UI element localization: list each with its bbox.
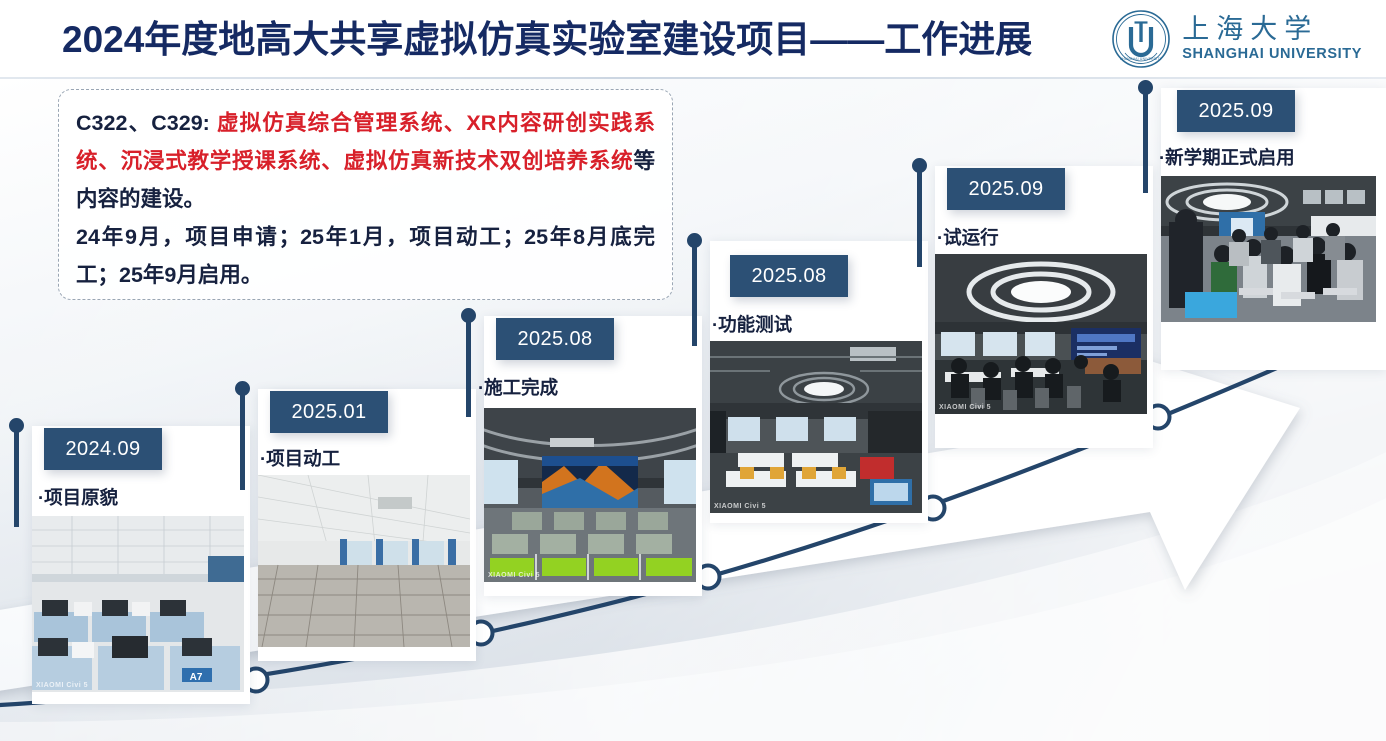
card-stem [14,427,19,527]
photo-watermark: XIAOMI Civi 5 [939,404,991,411]
card-stem [917,167,922,267]
milestone-card-6[interactable]: 2025.09 ·新学期正式启用 [1143,80,1386,380]
card-stem [692,242,697,346]
callout-code-label: C322、C329: [76,111,210,135]
logo-text-en: SHANGHAI UNIVERSITY [1182,45,1362,63]
milestone-date-badge: 2025.09 [1177,90,1295,132]
project-description-callout: C322、C329: 虚拟仿真综合管理系统、XR内容研创实践系统、沉浸式教学授课… [58,89,673,300]
card-stem [240,390,245,490]
milestone-date-badge: 2024.09 [44,428,162,470]
milestone-photo-5: XIAOMI Civi 5 [935,254,1147,414]
card-stem [1143,89,1148,193]
milestone-photo-6 [1161,176,1376,322]
milestone-caption: ·项目动工 [260,445,340,471]
photo-watermark: XIAOMI Civi 5 [488,572,540,579]
milestone-photo-4: XIAOMI Civi 5 [710,341,922,513]
milestone-photo-3: XIAOMI Civi 5 [484,408,696,582]
photo-watermark: XIAOMI Civi 5 [714,503,766,510]
svg-text:A7: A7 [190,672,203,683]
milestone-photo-2 [258,475,470,647]
milestone-photo-1: A7 XIAOMI Civi 5 [32,516,244,692]
photo-watermark: XIAOMI Civi 5 [36,682,88,689]
stem-dot-icon [1138,80,1153,95]
stem-dot-icon [912,158,927,173]
stem-dot-icon [9,418,24,433]
stem-dot-icon [687,233,702,248]
milestone-caption: ·功能测试 [712,311,792,337]
milestone-card-5[interactable]: 2025.09 ·试运行 [917,158,1153,458]
milestone-card-2[interactable]: 2025.01 ·项目动工 [240,381,476,671]
milestone-date-badge: 2025.08 [496,318,614,360]
slide-root: 2024年度地高大共享虚拟仿真实验室建设项目——工作进展 SHANGHAI UN… [0,0,1386,741]
milestone-date-badge: 2025.09 [947,168,1065,210]
milestone-caption: ·施工完成 [478,374,558,400]
callout-paragraph-1: C322、C329: 虚拟仿真综合管理系统、XR内容研创实践系统、沉浸式教学授课… [76,104,655,218]
slide-header: 2024年度地高大共享虚拟仿真实验室建设项目——工作进展 SHANGHAI UN… [0,0,1386,78]
milestone-caption: ·新学期正式启用 [1159,144,1295,170]
milestone-card-1[interactable]: 2024.09 ·项目原貌 [14,418,250,708]
university-logo: SHANGHAI UNIVERSITY 上海大学 SHANGHAI UNIVER… [1111,6,1362,72]
header-divider [0,77,1386,79]
card-stem [466,317,471,417]
stem-dot-icon [235,381,250,396]
milestone-date-badge: 2025.08 [730,255,848,297]
page-title: 2024年度地高大共享虚拟仿真实验室建设项目——工作进展 [62,14,1032,66]
stem-dot-icon [461,308,476,323]
milestone-date-badge: 2025.01 [270,391,388,433]
milestone-caption: ·试运行 [937,224,999,250]
callout-paragraph-2: 24年9月，项目申请；25年1月，项目动工；25年8月底完工；25年9月启用。 [76,218,655,294]
milestone-card-4[interactable]: 2025.08 ·功能测试 [692,233,928,533]
milestone-caption: ·项目原貌 [38,484,118,510]
milestone-card-3[interactable]: 2025.08 ·施工完成 [466,308,702,608]
shu-emblem-icon: SHANGHAI UNIVERSITY [1111,9,1171,69]
logo-text-cn: 上海大学 [1182,15,1362,45]
svg-text:SHANGHAI UNIVERSITY: SHANGHAI UNIVERSITY [1120,57,1163,61]
